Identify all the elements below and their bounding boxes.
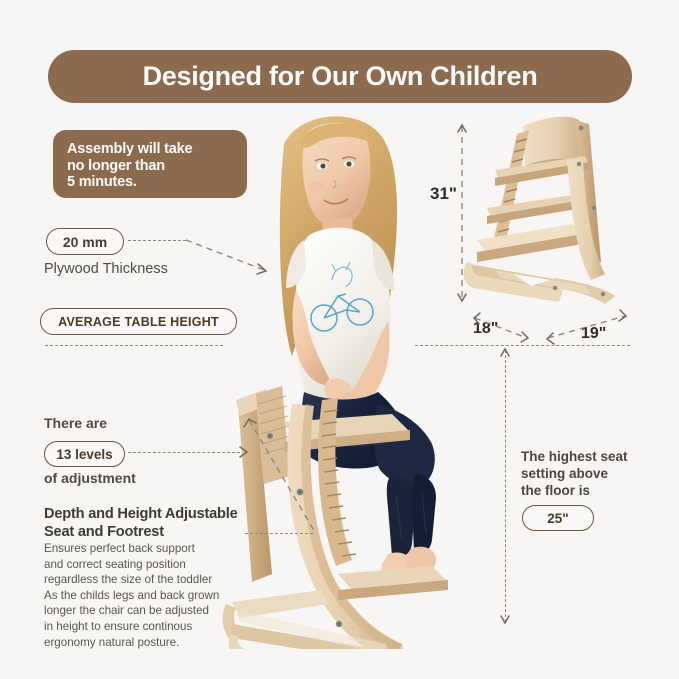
highest-seat-line-3: the floor is: [521, 482, 651, 499]
assembly-callout: Assembly will take no longer than 5 minu…: [53, 130, 247, 198]
depth-body-line: and correct seating position: [44, 557, 249, 573]
arrowhead-depth-right: [521, 332, 528, 342]
depth-body-line: longer the chair can be adjusted: [44, 603, 249, 619]
divider-dashed-right: [415, 345, 630, 346]
depth-body-line: ergonomy natural posture.: [44, 635, 249, 651]
depth-body-line: Ensures perfect back support: [44, 541, 249, 557]
depth-footrest-body: Ensures perfect back support and correct…: [44, 541, 249, 650]
depth-body-line: As the childs legs and back grown: [44, 588, 249, 604]
highest-seat-line-1: The highest seat: [521, 448, 651, 465]
divider-dashed-left: [45, 345, 223, 346]
infographic-canvas: Designed for Our Own Children Assembly w…: [0, 0, 679, 679]
photo-highchair-dimensions: [455, 112, 635, 307]
leader-line-plywood: [128, 240, 186, 241]
dimension-width-label: 19": [581, 325, 606, 343]
dimension-depth-label: 18": [473, 320, 498, 338]
assembly-line-3: 5 minutes.: [67, 174, 247, 191]
arrowhead-width-left: [547, 333, 554, 344]
assembly-line-2: no longer than: [67, 158, 247, 175]
average-table-height-pill: AVERAGE TABLE HEIGHT: [40, 308, 237, 335]
adjustment-levels-pill: 13 levels: [44, 441, 125, 467]
page-title: Designed for Our Own Children: [143, 61, 538, 92]
arrowhead-width-right: [619, 310, 626, 321]
depth-heading-line-2: Seat and Footrest: [44, 524, 259, 542]
levels-suffix-label: of adjustment: [44, 470, 136, 486]
depth-footrest-heading: Depth and Height Adjustable Seat and Foo…: [44, 506, 259, 541]
highest-seat-line-2: setting above: [521, 465, 651, 482]
leader-line-levels: [128, 452, 240, 453]
leader-line-depth: [245, 533, 313, 534]
plywood-thickness-pill: 20 mm: [46, 228, 124, 255]
depth-body-line: in height to ensure continous: [44, 619, 249, 635]
plywood-thickness-label: Plywood Thickness: [44, 261, 168, 277]
assembly-line-1: Assembly will take: [67, 141, 247, 158]
highest-seat-caption: The highest seat setting above the floor…: [521, 448, 651, 499]
header-banner: Designed for Our Own Children: [48, 50, 632, 103]
measure-line-seat-height: [505, 350, 506, 622]
dimension-height-label: 31": [430, 184, 457, 204]
highest-seat-value-pill: 25": [522, 505, 594, 531]
depth-body-line: regardless the size of the toddler: [44, 572, 249, 588]
depth-heading-line-1: Depth and Height Adjustable: [44, 506, 259, 524]
levels-prefix-label: There are: [44, 415, 107, 431]
